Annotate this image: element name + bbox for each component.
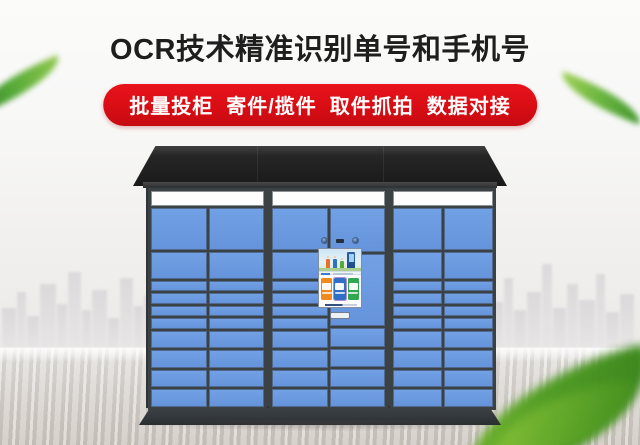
locker-door[interactable]	[209, 208, 265, 250]
locker-door-column	[151, 208, 207, 407]
ir-sensor-bar-icon	[336, 239, 344, 243]
locker-door[interactable]	[444, 350, 493, 368]
locker-door[interactable]	[209, 370, 265, 388]
camera-lens-right-icon	[352, 237, 359, 244]
locker-door-column	[209, 208, 265, 407]
locker-door[interactable]	[151, 208, 207, 250]
camera-lens-left-icon	[321, 237, 328, 244]
locker-door[interactable]	[444, 370, 493, 388]
box-icon	[322, 283, 331, 290]
send-parcel-button[interactable]	[334, 278, 345, 300]
locker-door[interactable]	[151, 281, 207, 291]
locker-door[interactable]	[209, 389, 265, 407]
locker-door[interactable]	[330, 369, 386, 387]
badge-item-0: 批量投柜	[129, 90, 213, 119]
locker-header-panel	[272, 191, 385, 206]
locker-door[interactable]	[272, 370, 328, 388]
locker-door[interactable]	[393, 293, 442, 303]
locker-right-section	[390, 188, 496, 410]
locker-door[interactable]	[444, 318, 493, 328]
locker-door[interactable]	[393, 306, 442, 316]
locker-door[interactable]	[393, 281, 442, 291]
locker-door[interactable]	[444, 293, 493, 303]
locker-door[interactable]	[444, 306, 493, 316]
locker-door[interactable]	[209, 252, 265, 279]
locker-door[interactable]	[330, 389, 386, 407]
locker-header-panel	[151, 191, 264, 206]
locker-ground-shadow	[128, 420, 514, 431]
feature-badge: 批量投柜寄件/揽件取件抓拍数据对接	[103, 84, 537, 126]
locker-door[interactable]	[444, 208, 493, 250]
locker-door[interactable]	[151, 350, 207, 368]
locker-door[interactable]	[151, 389, 207, 407]
locker-door[interactable]	[209, 331, 265, 349]
locker-door[interactable]	[209, 350, 265, 368]
locker-door[interactable]	[393, 318, 442, 328]
canopy-seam-right	[383, 146, 384, 186]
kiosk-footer-bar	[319, 303, 361, 307]
locker-door[interactable]	[393, 370, 442, 388]
kiosk-hero-banner	[319, 249, 361, 271]
locker-door[interactable]	[151, 331, 207, 349]
locker-door[interactable]	[151, 252, 207, 279]
locker-door[interactable]	[393, 350, 442, 368]
locker-door[interactable]	[272, 389, 328, 407]
canopy-seam-left	[257, 146, 258, 186]
scene-stage: OCR技术精准识别单号和手机号 批量投柜寄件/揽件取件抓拍数据对接	[0, 0, 640, 445]
locker-door[interactable]	[393, 252, 442, 279]
bag-icon	[349, 283, 358, 290]
locker-door[interactable]	[444, 252, 493, 279]
deposit-parcel-button[interactable]	[321, 278, 332, 300]
locker-door[interactable]	[444, 281, 493, 291]
badge-item-2: 取件抓拍	[330, 90, 414, 119]
send-parcel-label	[335, 292, 345, 294]
locker-left-section	[148, 188, 267, 410]
locker-door[interactable]	[272, 350, 328, 368]
card-reader-slot[interactable]	[330, 312, 350, 319]
locker-door[interactable]	[151, 306, 207, 316]
locker-door[interactable]	[393, 331, 442, 349]
locker-door[interactable]	[444, 389, 493, 407]
pickup-parcel-label	[348, 292, 358, 294]
locker-door[interactable]	[209, 281, 265, 291]
locker-door[interactable]	[151, 318, 207, 328]
locker-door-column	[444, 208, 493, 407]
envelope-icon	[335, 283, 344, 290]
page-title: OCR技术精准识别单号和手机号	[0, 26, 640, 68]
badge-item-3: 数据对接	[427, 90, 511, 119]
kiosk-touchscreen[interactable]	[318, 248, 362, 308]
locker-header-panel	[393, 191, 493, 206]
locker-door[interactable]	[209, 293, 265, 303]
locker-door[interactable]	[444, 331, 493, 349]
badge-item-1: 寄件/揽件	[226, 90, 317, 119]
locker-door[interactable]	[330, 349, 386, 367]
locker-door-grid	[393, 208, 493, 407]
locker-touch-kiosk[interactable]	[312, 236, 368, 322]
kiosk-search-bar[interactable]	[319, 271, 361, 275]
locker-door[interactable]	[393, 389, 442, 407]
locker-door-grid	[151, 208, 264, 407]
locker-door-column	[393, 208, 442, 407]
deposit-parcel-label	[322, 292, 332, 294]
locker-door[interactable]	[272, 331, 328, 349]
locker-canopy-roof	[133, 146, 507, 186]
pickup-parcel-button[interactable]	[348, 278, 359, 300]
locker-door[interactable]	[209, 318, 265, 328]
locker-door[interactable]	[393, 208, 442, 250]
locker-door[interactable]	[151, 293, 207, 303]
locker-door[interactable]	[209, 306, 265, 316]
kiosk-action-buttons	[319, 275, 361, 303]
locker-door[interactable]	[330, 328, 386, 346]
kiosk-sensor-row	[312, 236, 368, 245]
locker-door[interactable]	[151, 370, 207, 388]
